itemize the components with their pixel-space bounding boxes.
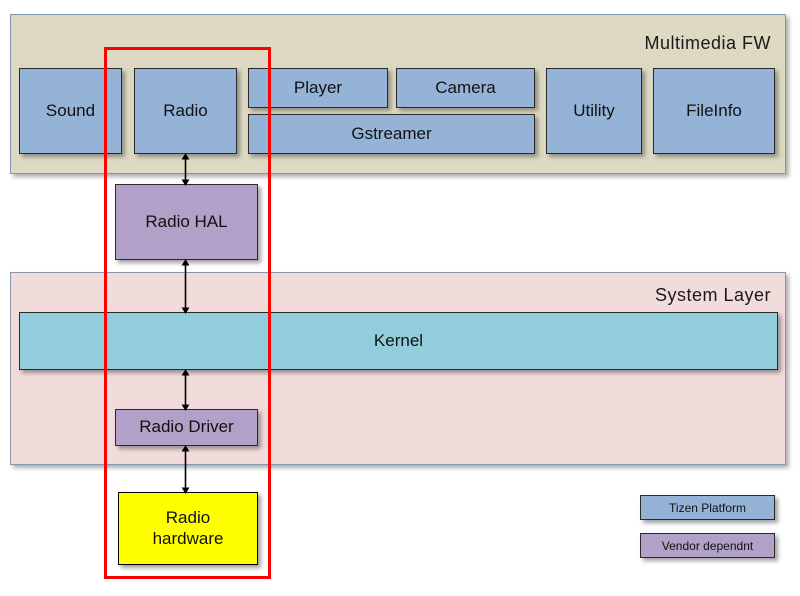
block-sound[interactable]: Sound — [19, 68, 122, 154]
block-radio-driver[interactable]: Radio Driver — [115, 409, 258, 446]
block-radio-hal[interactable]: Radio HAL — [115, 184, 258, 260]
legend-item-vendor-dependnt: Vendor dependnt — [640, 533, 775, 558]
layer-title-system-layer: System Layer — [655, 285, 771, 306]
block-radio-hardware[interactable]: Radio hardware — [118, 492, 258, 565]
block-kernel[interactable]: Kernel — [19, 312, 778, 370]
architecture-diagram: Multimedia FW Sound Radio Player Camera … — [0, 0, 800, 596]
block-gstreamer[interactable]: Gstreamer — [248, 114, 535, 154]
block-camera[interactable]: Camera — [396, 68, 535, 108]
layer-title-multimedia-fw: Multimedia FW — [644, 33, 771, 54]
block-utility[interactable]: Utility — [546, 68, 642, 154]
block-radio[interactable]: Radio — [134, 68, 237, 154]
legend-item-tizen-platform: Tizen Platform — [640, 495, 775, 520]
block-player[interactable]: Player — [248, 68, 388, 108]
block-fileinfo[interactable]: FileInfo — [653, 68, 775, 154]
